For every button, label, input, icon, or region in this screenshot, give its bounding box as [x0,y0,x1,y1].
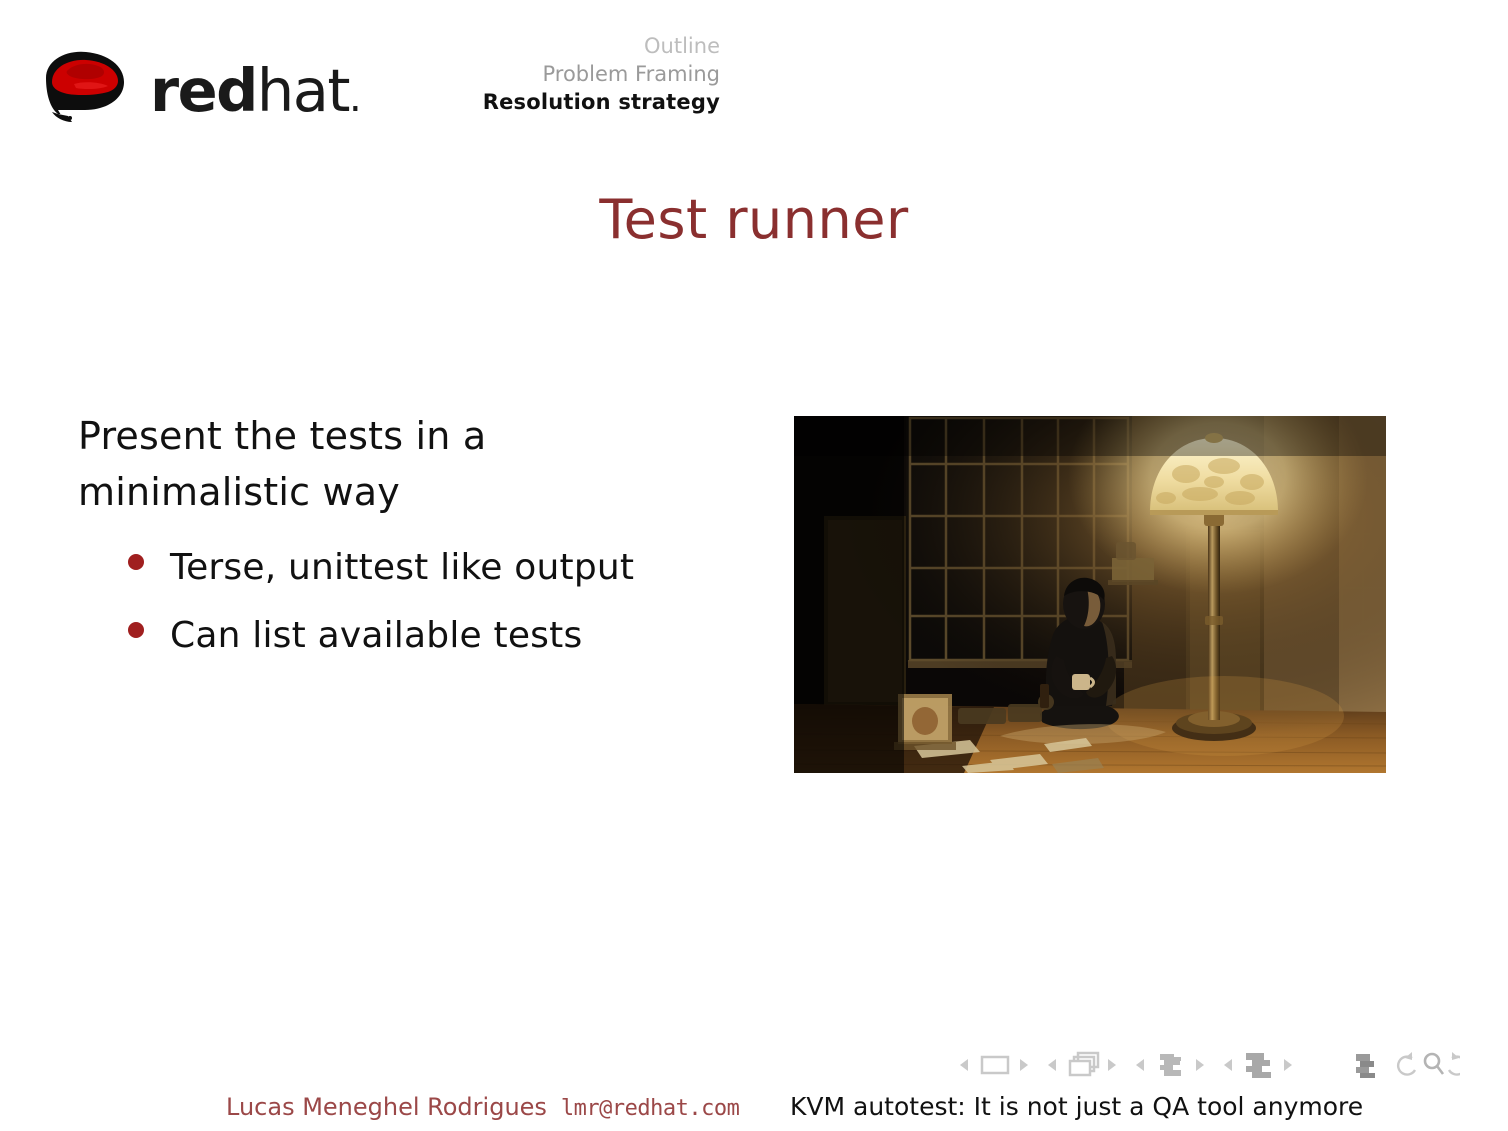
redhat-logo: redhat. [28,48,360,126]
list-item-label: Can list available tests [170,602,582,670]
person-sitting-under-lamp-photo [794,416,1386,773]
page-title: Test runner [0,189,1508,251]
wordmark-dot: . [349,75,360,121]
back-arrow-icon [1398,1052,1415,1075]
slide-nav-group [960,1057,1028,1073]
footer-author: Lucas Meneghel Rodrigueslmr@redhat.com [226,1092,739,1124]
footer-talk-title: KVM autotest: It is not just a QA tool a… [790,1092,1363,1122]
list-item: Can list available tests [78,602,718,670]
author-email[interactable]: lmr@redhat.com [561,1096,739,1121]
search-icon [1425,1054,1443,1074]
bullet-dot-icon [128,554,144,570]
beamer-navigation-symbols[interactable] [960,1048,1460,1082]
section-nav-group [1224,1053,1292,1078]
document-icon [1356,1054,1375,1078]
bullet-list: Terse, unittest like output Can list ava… [78,534,718,670]
list-item-label: Terse, unittest like output [170,534,634,602]
slide-header: Outline Problem Framing Resolution strat… [0,0,1508,150]
redhat-wordmark: redhat. [150,61,360,120]
redhat-shadowman-icon [28,48,140,126]
list-item: Terse, unittest like output [78,534,718,602]
slide-body: Present the tests in a minimalistic way … [78,408,718,670]
lead-paragraph: Present the tests in a minimalistic way [78,408,718,520]
wordmark-red: red [150,56,257,125]
author-name: Lucas Meneghel Rodrigues [226,1093,547,1121]
forward-arrow-icon [1449,1052,1460,1075]
frame-nav-group [1048,1053,1116,1075]
bullet-dot-icon [128,622,144,638]
wordmark-hat: hat [257,56,349,125]
subsection-nav-group [1136,1054,1204,1076]
